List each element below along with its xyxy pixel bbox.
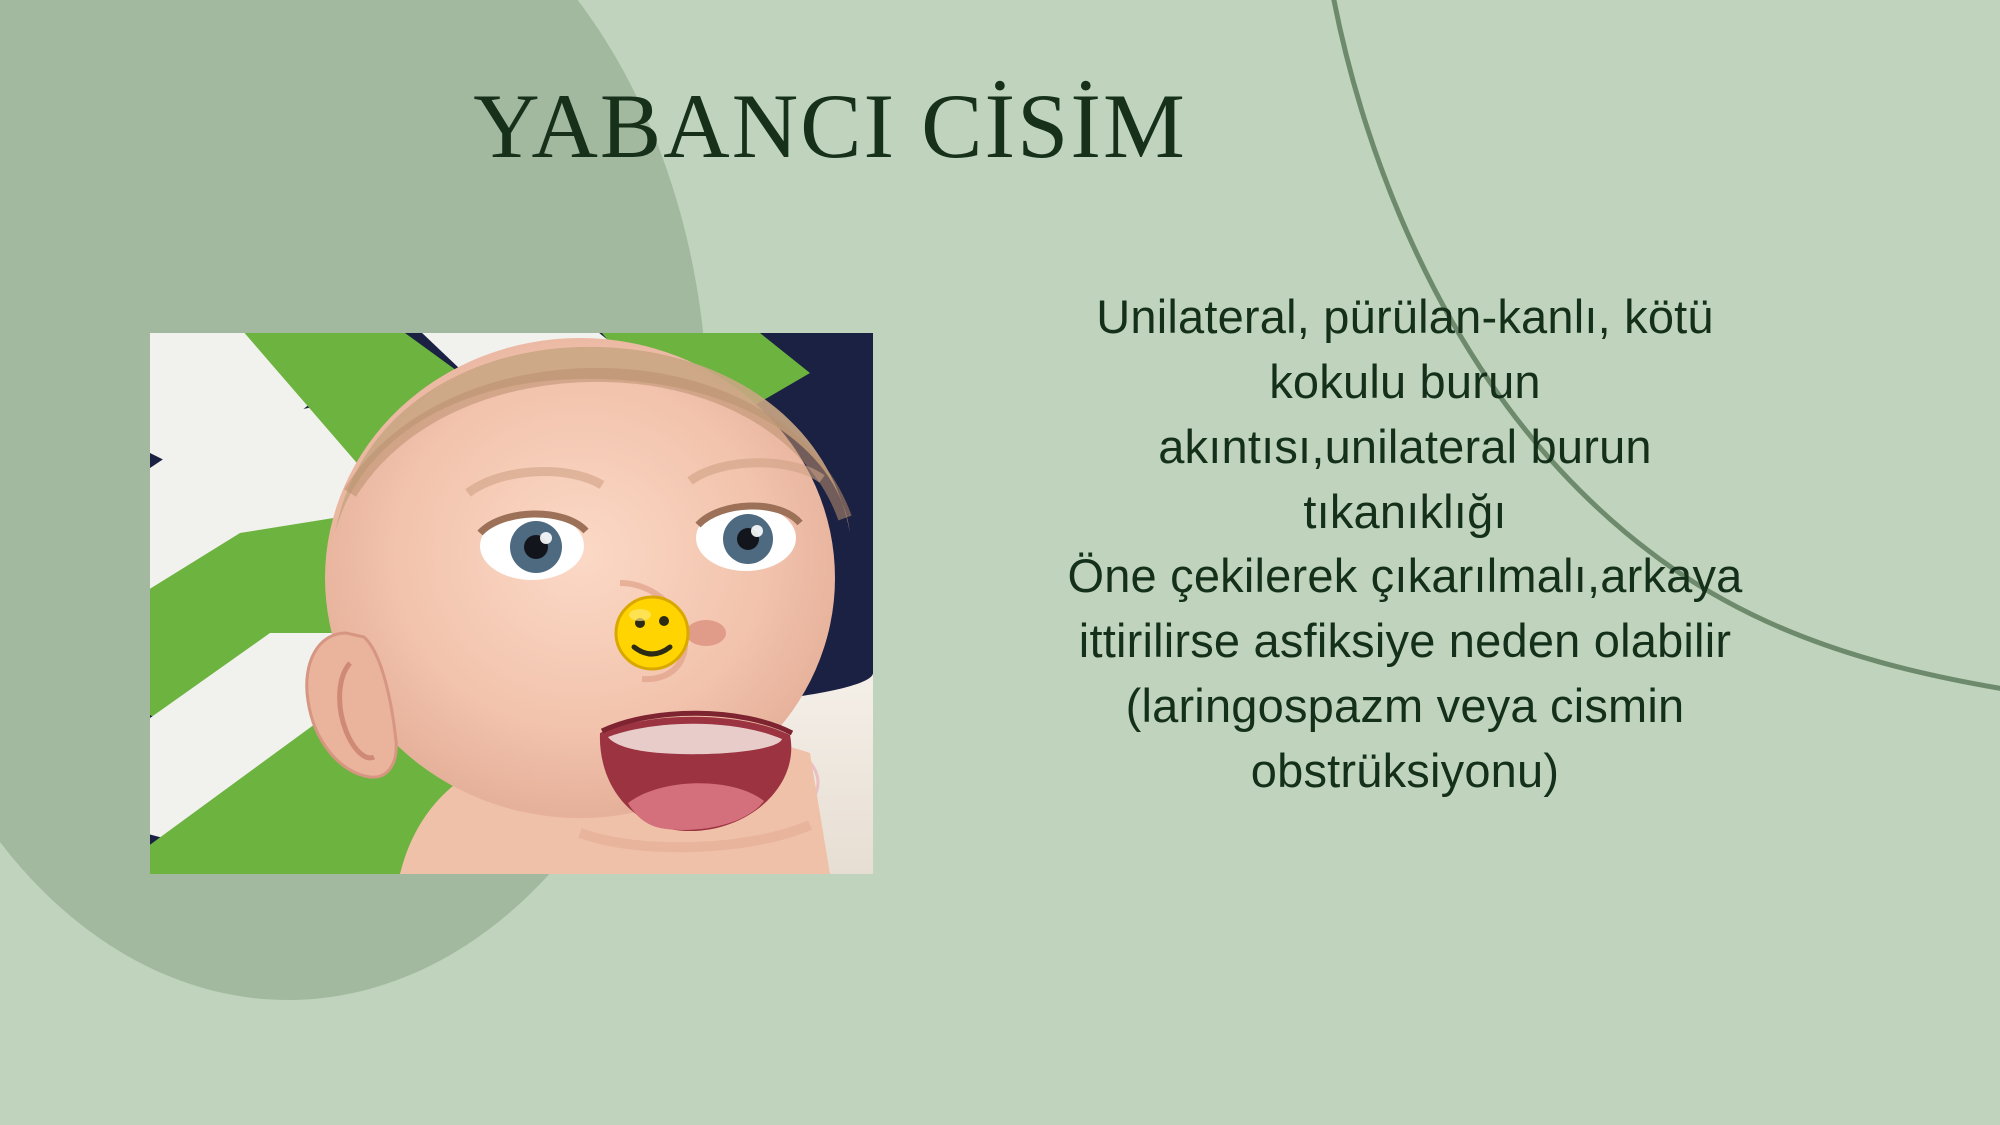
body-text-block: Unilateral, pürülan-kanlı, kötü kokulu b… <box>985 285 1825 804</box>
body-line: tıkanıklığı <box>985 480 1825 545</box>
body-line: (laringospazm veya cismin <box>985 674 1825 739</box>
foreign-body-object <box>616 597 688 669</box>
body-line: ittirilirse asfiksiye neden olabilir <box>985 609 1825 674</box>
baby-foreign-body-photo <box>150 333 873 874</box>
body-line: kokulu burun <box>985 350 1825 415</box>
page-title: YABANCI CİSİM <box>330 78 1330 175</box>
body-line: obstrüksiyonu) <box>985 739 1825 804</box>
body-line: Unilateral, pürülan-kanlı, kötü <box>985 285 1825 350</box>
presentation-slide: YABANCI CİSİM <box>0 0 2000 1125</box>
body-line: Öne çekilerek çıkarılmalı,arkaya <box>985 544 1825 609</box>
body-line: akıntısı,unilateral burun <box>985 415 1825 480</box>
